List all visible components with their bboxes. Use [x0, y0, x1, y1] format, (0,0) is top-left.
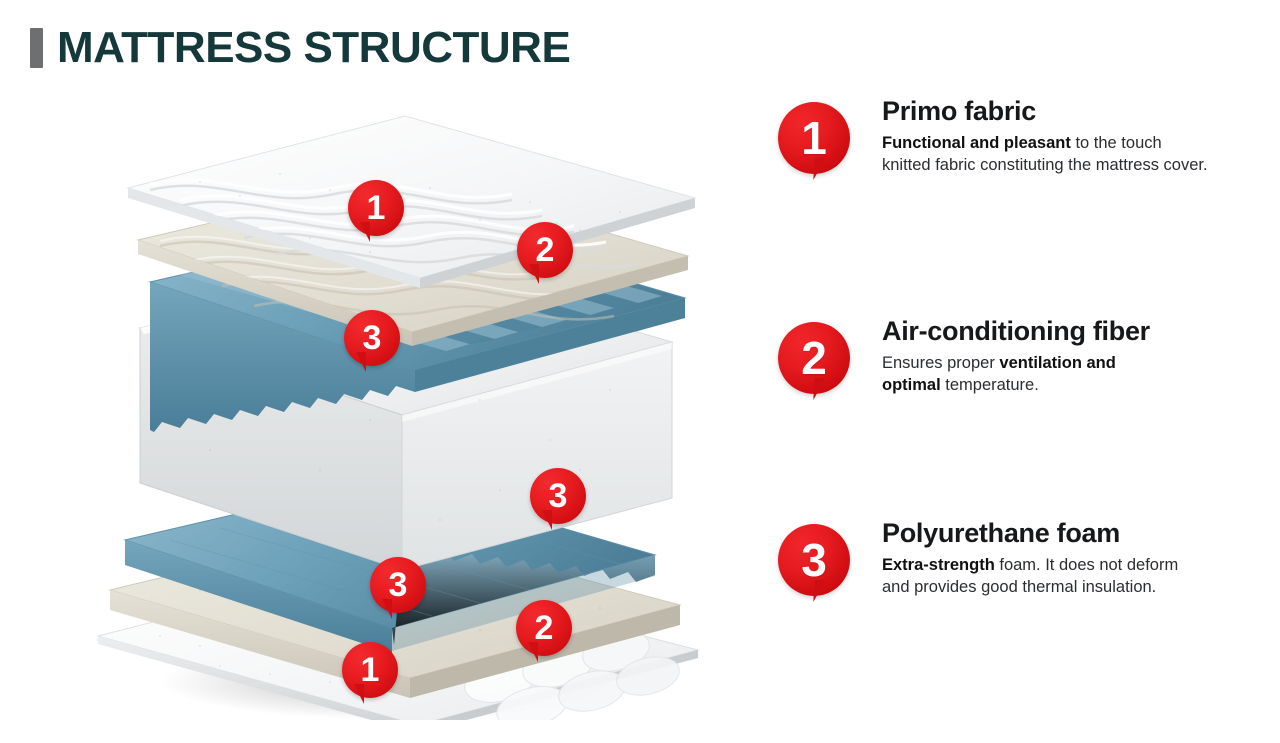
diagram-marker-2-top[interactable]: 2 — [517, 222, 573, 278]
title-accent-bar — [30, 28, 43, 68]
legend-item-primo-fabric[interactable]: 1 Primo fabric Functional and pleasant t… — [770, 80, 1270, 280]
marker-number: 3 — [370, 557, 426, 613]
legend-text-1: Primo fabric Functional and pleasant to … — [882, 96, 1262, 177]
marker-number: 2 — [516, 600, 572, 656]
legend-desc-2: Ensures proper ventilation andoptimal te… — [882, 353, 1262, 397]
legend-desc-3-bold: Extra-strength — [882, 556, 995, 574]
legend-item-air-conditioning-fiber[interactable]: 2 Air-conditioning fiber Ensures proper … — [770, 300, 1270, 500]
diagram-marker-3-lower-foam[interactable]: 3 — [370, 557, 426, 613]
diagram-marker-2-bottom[interactable]: 2 — [516, 600, 572, 656]
legend-title-1: Primo fabric — [882, 96, 1262, 127]
legend-desc-3-line2: and provides good thermal insulation. — [882, 578, 1156, 596]
page-title-text: MATTRESS STRUCTURE — [57, 26, 570, 70]
legend-desc-2-bold: ventilation and — [999, 354, 1115, 372]
legend-list: 1 Primo fabric Functional and pleasant t… — [770, 80, 1270, 680]
legend-title-3: Polyurethane foam — [882, 518, 1262, 549]
marker-number: 1 — [778, 102, 850, 174]
legend-desc-1-bold: Functional and pleasant — [882, 134, 1071, 152]
marker-number: 3 — [530, 468, 586, 524]
legend-desc-1: Functional and pleasant to the touchknit… — [882, 133, 1262, 177]
marker-number: 3 — [778, 524, 850, 596]
legend-item-polyurethane-foam[interactable]: 3 Polyurethane foam Extra-strength foam.… — [770, 502, 1270, 702]
diagram-marker-1-bottom[interactable]: 1 — [342, 642, 398, 698]
legend-desc-1-rest: to the touch — [1071, 134, 1162, 152]
infographic-page: MATTRESS STRUCTURE — [0, 0, 1280, 743]
marker-number: 3 — [344, 310, 400, 366]
legend-pin-1[interactable]: 1 — [778, 102, 850, 174]
diagram-marker-1-top[interactable]: 1 — [348, 180, 404, 236]
legend-text-3: Polyurethane foam Extra-strength foam. I… — [882, 518, 1262, 599]
legend-desc-3-rest: foam. It does not deform — [995, 556, 1178, 574]
marker-number: 2 — [517, 222, 573, 278]
diagram-marker-3-core[interactable]: 3 — [530, 468, 586, 524]
legend-desc-1-line2: knitted fabric constituting the mattress… — [882, 156, 1208, 174]
marker-number: 1 — [348, 180, 404, 236]
legend-title-2: Air-conditioning fiber — [882, 316, 1262, 347]
legend-desc-2-bold2: optimal — [882, 376, 941, 394]
page-title: MATTRESS STRUCTURE — [30, 26, 570, 70]
diagram-marker-3-upper-foam[interactable]: 3 — [344, 310, 400, 366]
legend-desc-3: Extra-strength foam. It does not deforma… — [882, 555, 1262, 599]
legend-pin-3[interactable]: 3 — [778, 524, 850, 596]
legend-desc-2-pre: Ensures proper — [882, 354, 999, 372]
marker-number: 2 — [778, 322, 850, 394]
legend-pin-2[interactable]: 2 — [778, 322, 850, 394]
mattress-diagram: 1 2 3 3 3 2 1 — [80, 70, 720, 720]
legend-text-2: Air-conditioning fiber Ensures proper ve… — [882, 316, 1262, 397]
mattress-layers-svg — [80, 70, 720, 720]
legend-desc-2-rest: temperature. — [941, 376, 1039, 394]
marker-number: 1 — [342, 642, 398, 698]
